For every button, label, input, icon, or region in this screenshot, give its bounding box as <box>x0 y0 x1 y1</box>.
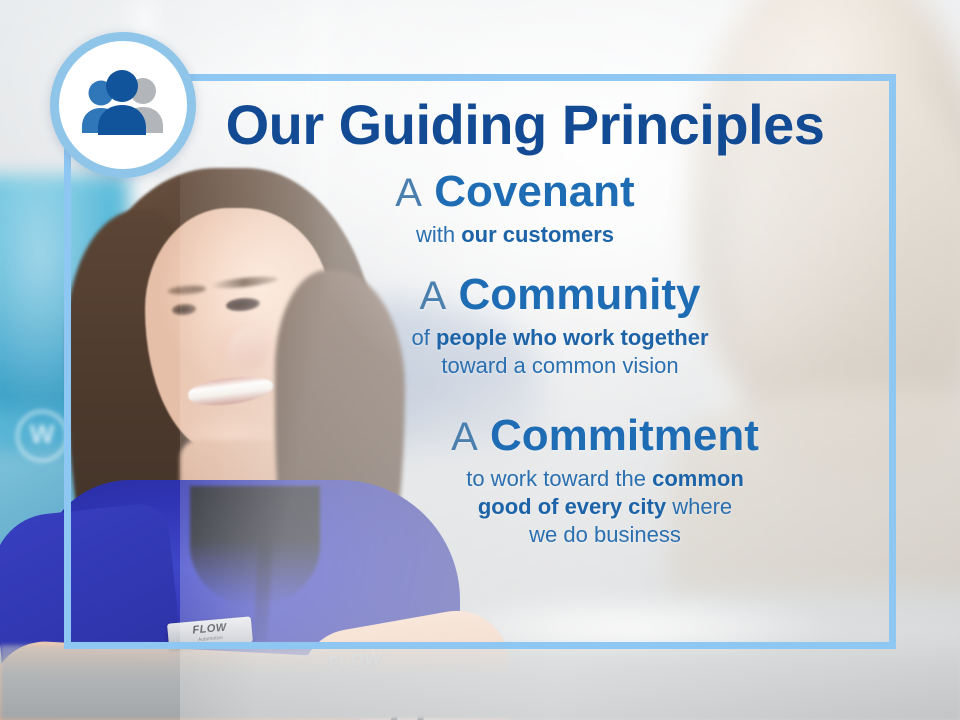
subtext-line: toward a common vision <box>264 352 856 380</box>
principle-keyword: Commitment <box>490 411 759 460</box>
principle-community: A Community of people who work together … <box>104 272 856 381</box>
subtext-line: of people who work together <box>264 324 856 352</box>
subtext-line: good of every city where <box>354 493 856 521</box>
subtext-run-bold: our customers <box>461 222 614 247</box>
subtext-run-bold: common <box>652 466 744 491</box>
principle-commitment: A Commitment to work toward the common g… <box>104 413 856 550</box>
subtext-line: we do business <box>354 521 856 549</box>
table-foreground <box>0 645 960 720</box>
people-group-icon <box>75 69 171 141</box>
banner-graphic: FLOW Automotive FLOW Our Guiding Princip… <box>0 0 960 720</box>
subtext-run-bold: people who work together <box>436 325 709 350</box>
people-badge <box>50 32 196 178</box>
subtext-run: of <box>411 325 435 350</box>
subtext-line: to work toward the common <box>354 465 856 493</box>
subtext-run-bold: good of every city <box>478 494 666 519</box>
subtext-line: with our customers <box>174 221 856 249</box>
subtext-run: to work toward the <box>466 466 652 491</box>
page-title: Our Guiding Principles <box>104 96 856 155</box>
principle-headline: A Commitment <box>354 413 856 460</box>
principle-subtext: of people who work together toward a com… <box>264 324 856 380</box>
subtext-run: with <box>416 222 461 247</box>
principle-subtext: to work toward the common good of every … <box>354 465 856 549</box>
principle-article: A <box>451 415 478 459</box>
principle-article: A <box>420 274 447 318</box>
principle-headline: A Covenant <box>174 169 856 216</box>
principle-article: A <box>395 171 422 215</box>
subtext-run: where <box>666 494 732 519</box>
principle-keyword: Covenant <box>434 167 634 216</box>
principle-keyword: Community <box>458 270 700 319</box>
principle-headline: A Community <box>264 272 856 319</box>
principle-covenant: A Covenant with our customers <box>104 169 856 250</box>
content-area: Our Guiding Principles A Covenant with o… <box>64 74 896 649</box>
principle-subtext: with our customers <box>174 221 856 249</box>
